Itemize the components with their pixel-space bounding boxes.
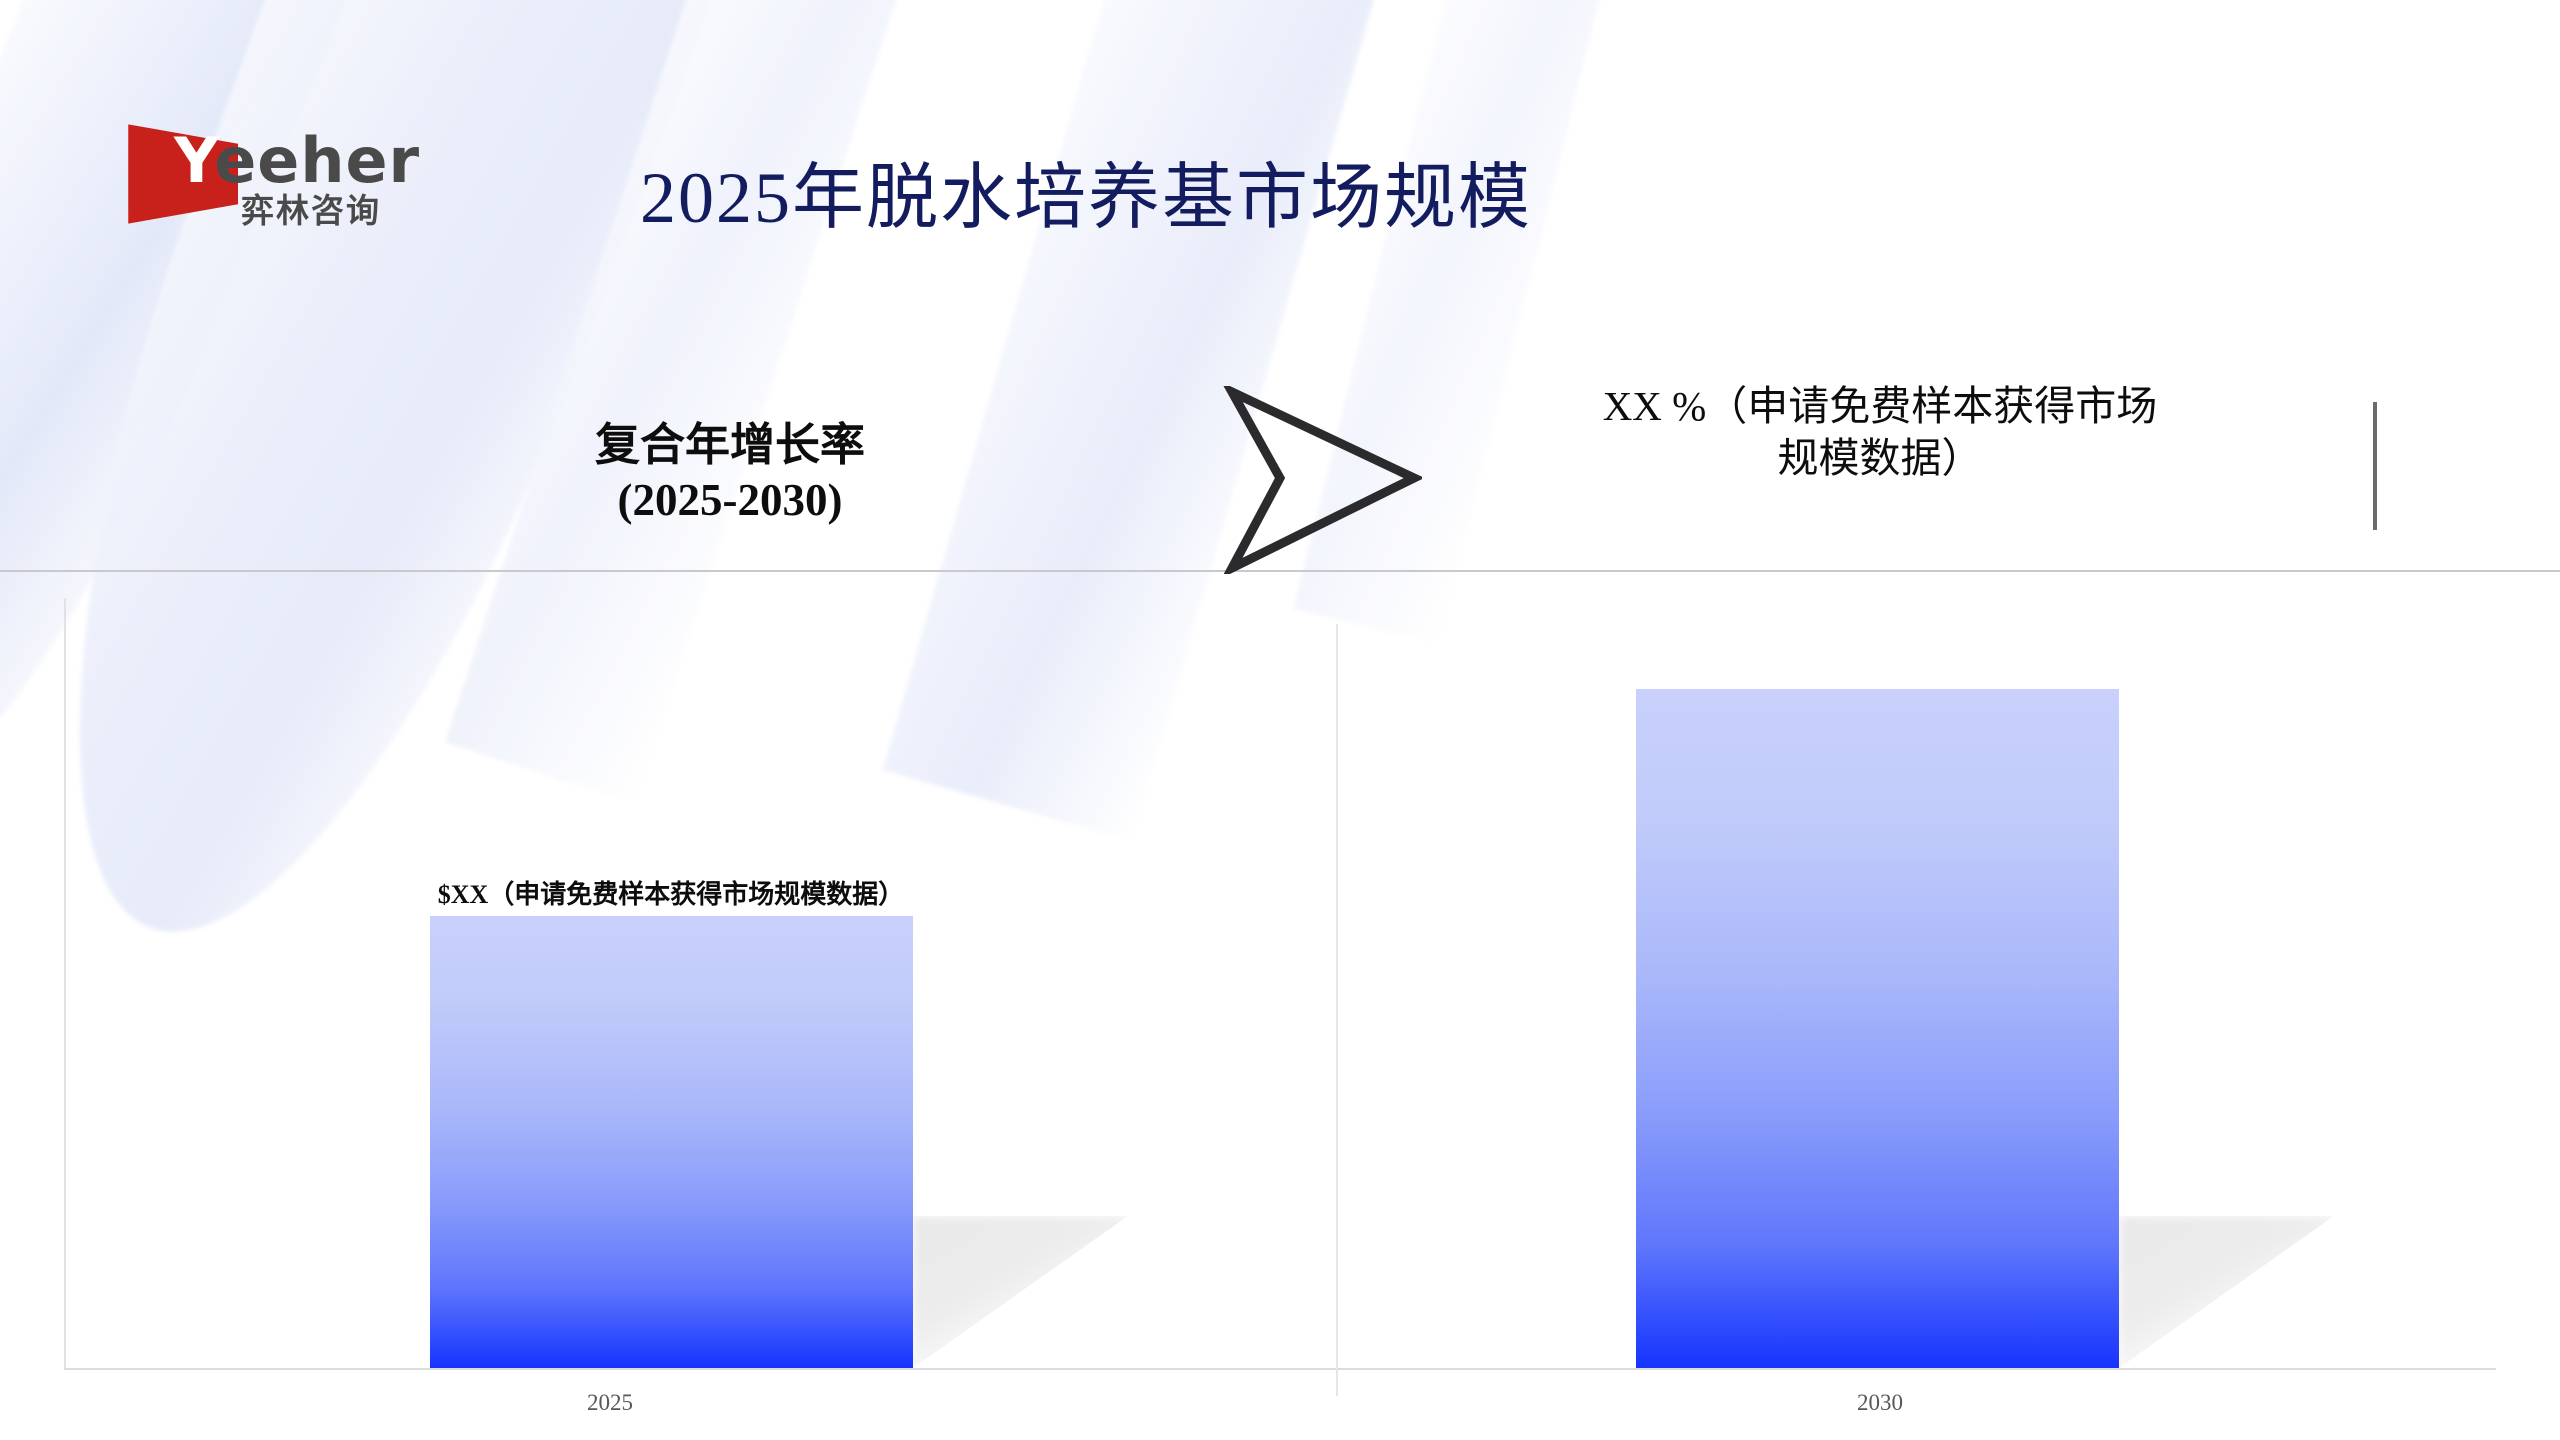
- bar-chart: $XX（申请免费样本获得市场规模数据） 2025 2030: [0, 572, 2560, 1440]
- brand-name-initial: Y: [174, 124, 214, 197]
- brand-name-rest: eeher: [214, 124, 420, 197]
- bar-2030[interactable]: [1636, 689, 2119, 1368]
- brand-name-chinese: 弈林咨询: [241, 194, 381, 227]
- panel-divider: [1336, 624, 1338, 1396]
- bar-shadow-2030: [2119, 1216, 2334, 1368]
- cagr-label-line2: (2025-2030): [540, 473, 920, 528]
- bar-2025[interactable]: [430, 916, 913, 1368]
- cagr-label: 复合年增长率 (2025-2030): [540, 418, 920, 528]
- cagr-value: XX %（申请免费样本获得市场规模数据）: [1600, 380, 2160, 485]
- chart-plot-frame: $XX（申请免费样本获得市场规模数据）: [64, 598, 2496, 1370]
- vertical-separator: [2373, 402, 2377, 530]
- page-title: 2025年脱水培养基市场规模: [640, 138, 1532, 243]
- x-axis-tick-2025: 2025: [400, 1390, 820, 1416]
- cagr-label-line1: 复合年增长率: [540, 418, 920, 473]
- x-axis-tick-2030: 2030: [1670, 1390, 2090, 1416]
- brand-logo: Yeeher 弈林咨询: [126, 120, 466, 230]
- arrow-right-outline-icon: [1222, 386, 1422, 574]
- bar-shadow-2025: [913, 1216, 1128, 1368]
- bar-value-label-2025: $XX（申请免费样本获得市场规模数据）: [401, 878, 941, 912]
- brand-name-latin: Yeeher: [174, 130, 420, 192]
